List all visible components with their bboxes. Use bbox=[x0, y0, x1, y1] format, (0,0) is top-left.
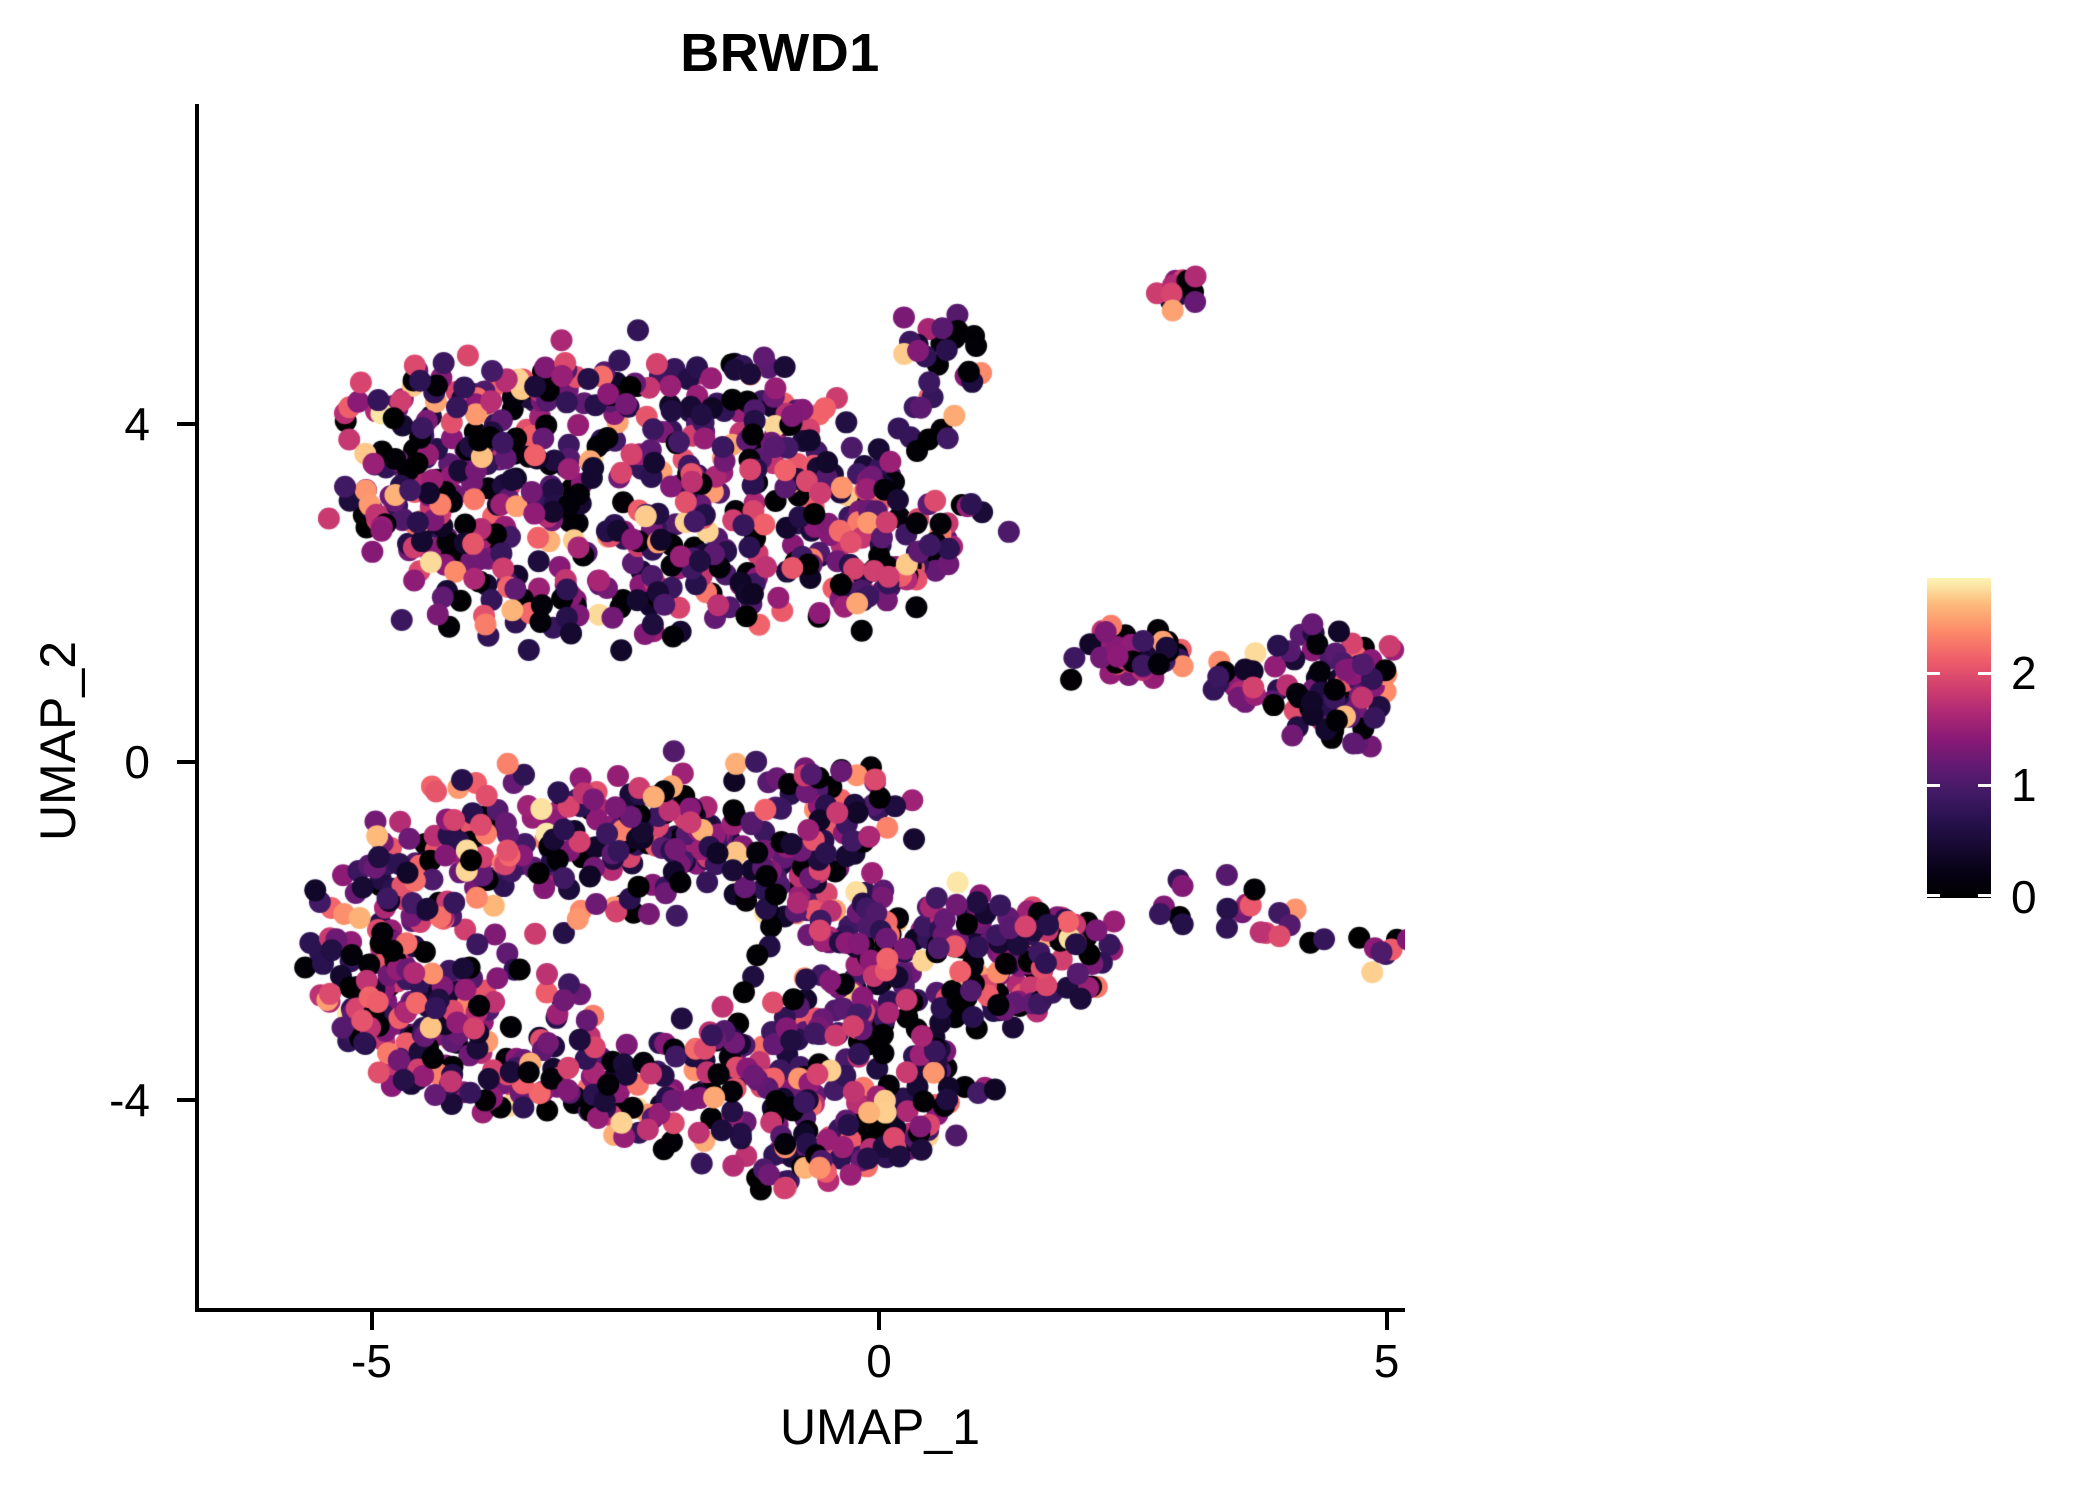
colorbar-tick-label: 1 bbox=[2011, 762, 2037, 808]
colorbar-tick-mark bbox=[1978, 784, 1991, 787]
colorbar-tick-mark bbox=[1978, 894, 1991, 897]
colorbar-legend: 012 bbox=[1927, 578, 1991, 898]
colorbar-tick-label: 2 bbox=[2011, 650, 2037, 696]
x-tick-mark bbox=[1385, 1312, 1389, 1330]
x-tick-label: 5 bbox=[1317, 1338, 1457, 1384]
colorbar-tick-mark bbox=[1927, 784, 1940, 787]
colorbar-gradient bbox=[1927, 578, 1991, 898]
x-tick-label: -5 bbox=[302, 1338, 442, 1384]
y-tick-mark bbox=[177, 422, 195, 426]
x-axis-label: UMAP_1 bbox=[590, 1398, 1170, 1456]
y-axis-label: UMAP_2 bbox=[29, 461, 87, 1021]
x-tick-mark bbox=[370, 1312, 374, 1330]
y-tick-mark bbox=[177, 760, 195, 764]
colorbar-tick-mark bbox=[1978, 672, 1991, 675]
umap-feature-plot: BRWD1 -404-505 UMAP_2 UMAP_1 012 bbox=[0, 0, 2100, 1500]
x-axis-line bbox=[195, 1308, 1405, 1312]
y-tick-label: 4 bbox=[30, 401, 150, 447]
colorbar-tick-label: 0 bbox=[2011, 874, 2037, 920]
x-tick-mark bbox=[877, 1312, 881, 1330]
y-tick-label: -4 bbox=[30, 1077, 150, 1123]
y-tick-mark bbox=[177, 1098, 195, 1102]
colorbar-tick-mark bbox=[1927, 894, 1940, 897]
x-tick-label: 0 bbox=[809, 1338, 949, 1384]
scatter-plot-area bbox=[199, 104, 1405, 1308]
scatter-points bbox=[199, 104, 1405, 1308]
page-title: BRWD1 bbox=[0, 26, 1560, 80]
colorbar-tick-mark bbox=[1927, 672, 1940, 675]
